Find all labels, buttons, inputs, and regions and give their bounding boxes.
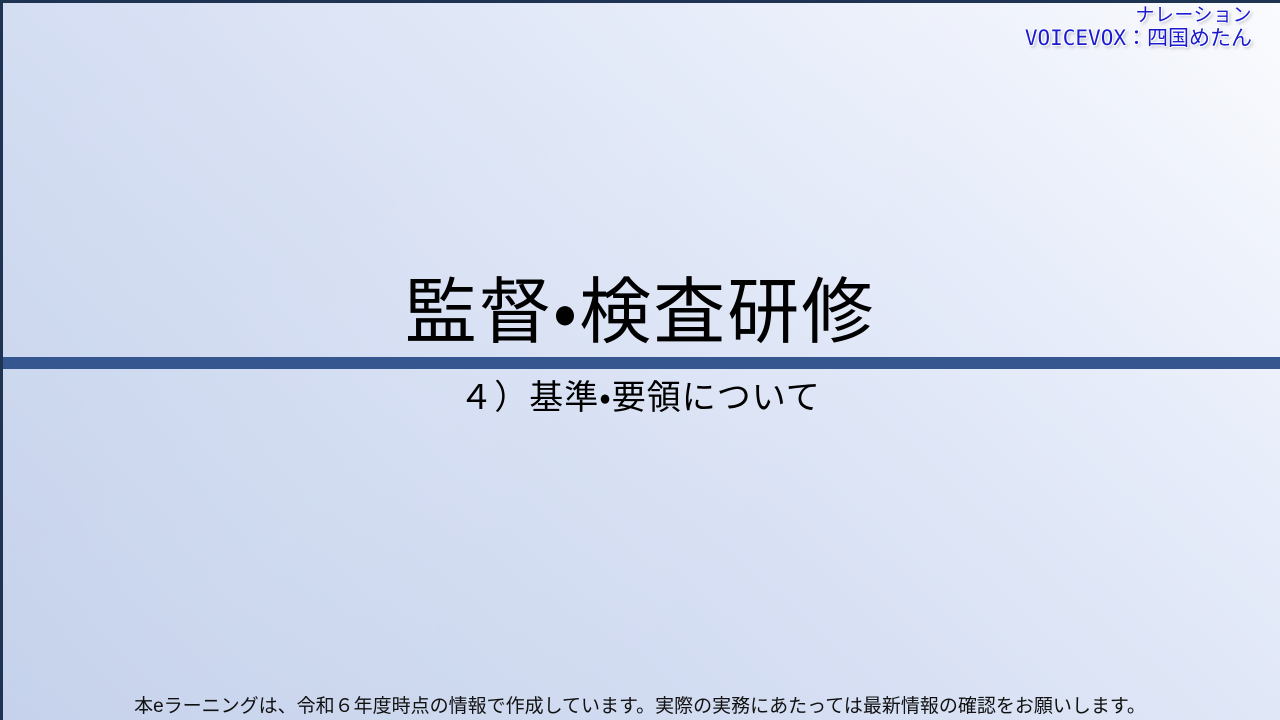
slide-left-border [0, 0, 3, 720]
slide-top-border [0, 0, 1280, 3]
page-title: 監督・検査研修 [0, 272, 1280, 356]
narration-voice-credit: VOICEVOX：四国めたん [1025, 26, 1252, 51]
page-subtitle: ４）基準・要領について [0, 378, 1280, 419]
narration-credit: ナレーション VOICEVOX：四国めたん [1025, 4, 1252, 51]
title-divider-bar [0, 357, 1280, 369]
narration-label: ナレーション [1025, 4, 1252, 26]
presentation-slide: ナレーション VOICEVOX：四国めたん 監督・検査研修 ４）基準・要領につい… [0, 0, 1280, 720]
footer-disclaimer: 本eラーニングは、令和６年度時点の情報で作成しています。実際の実務にあたっては最… [0, 691, 1280, 718]
